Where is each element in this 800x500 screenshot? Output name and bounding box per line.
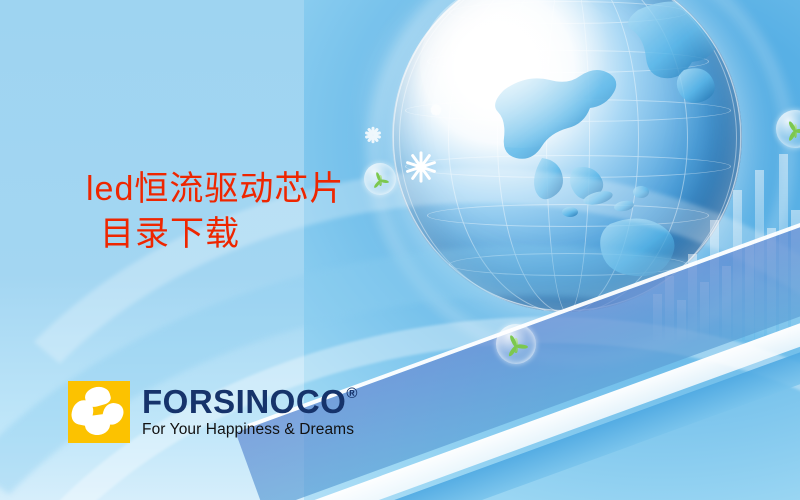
brand-tagline: For Your Happiness & Dreams: [142, 421, 358, 439]
promo-banner: led恒流驱动芯片 目录下载 FORSINOCO ® For Your Happ…: [0, 0, 800, 500]
bubble-windmill-icon: [364, 163, 396, 195]
brand-name-row: FORSINOCO ®: [142, 385, 358, 418]
registered-trademark-icon: ®: [346, 386, 358, 401]
windmill-icon: [783, 117, 800, 141]
company-logo: FORSINOCO ® For Your Happiness & Dreams: [68, 381, 358, 443]
headline: led恒流驱动芯片 目录下载: [86, 166, 344, 258]
windmill-icon: [503, 331, 529, 357]
headline-line-1: led恒流驱动芯片: [86, 166, 344, 212]
flower-icon: [404, 150, 438, 184]
bubble-windmill-icon: [496, 324, 536, 364]
windmill-icon: [370, 169, 390, 189]
headline-line-2: 目录下载: [100, 212, 344, 258]
flower-icon: [364, 126, 382, 144]
four-petal-pinwheel-icon: [68, 381, 130, 443]
logo-text-block: FORSINOCO ® For Your Happiness & Dreams: [142, 385, 358, 439]
flower-icon: [430, 104, 442, 116]
brand-name: FORSINOCO: [142, 385, 346, 418]
